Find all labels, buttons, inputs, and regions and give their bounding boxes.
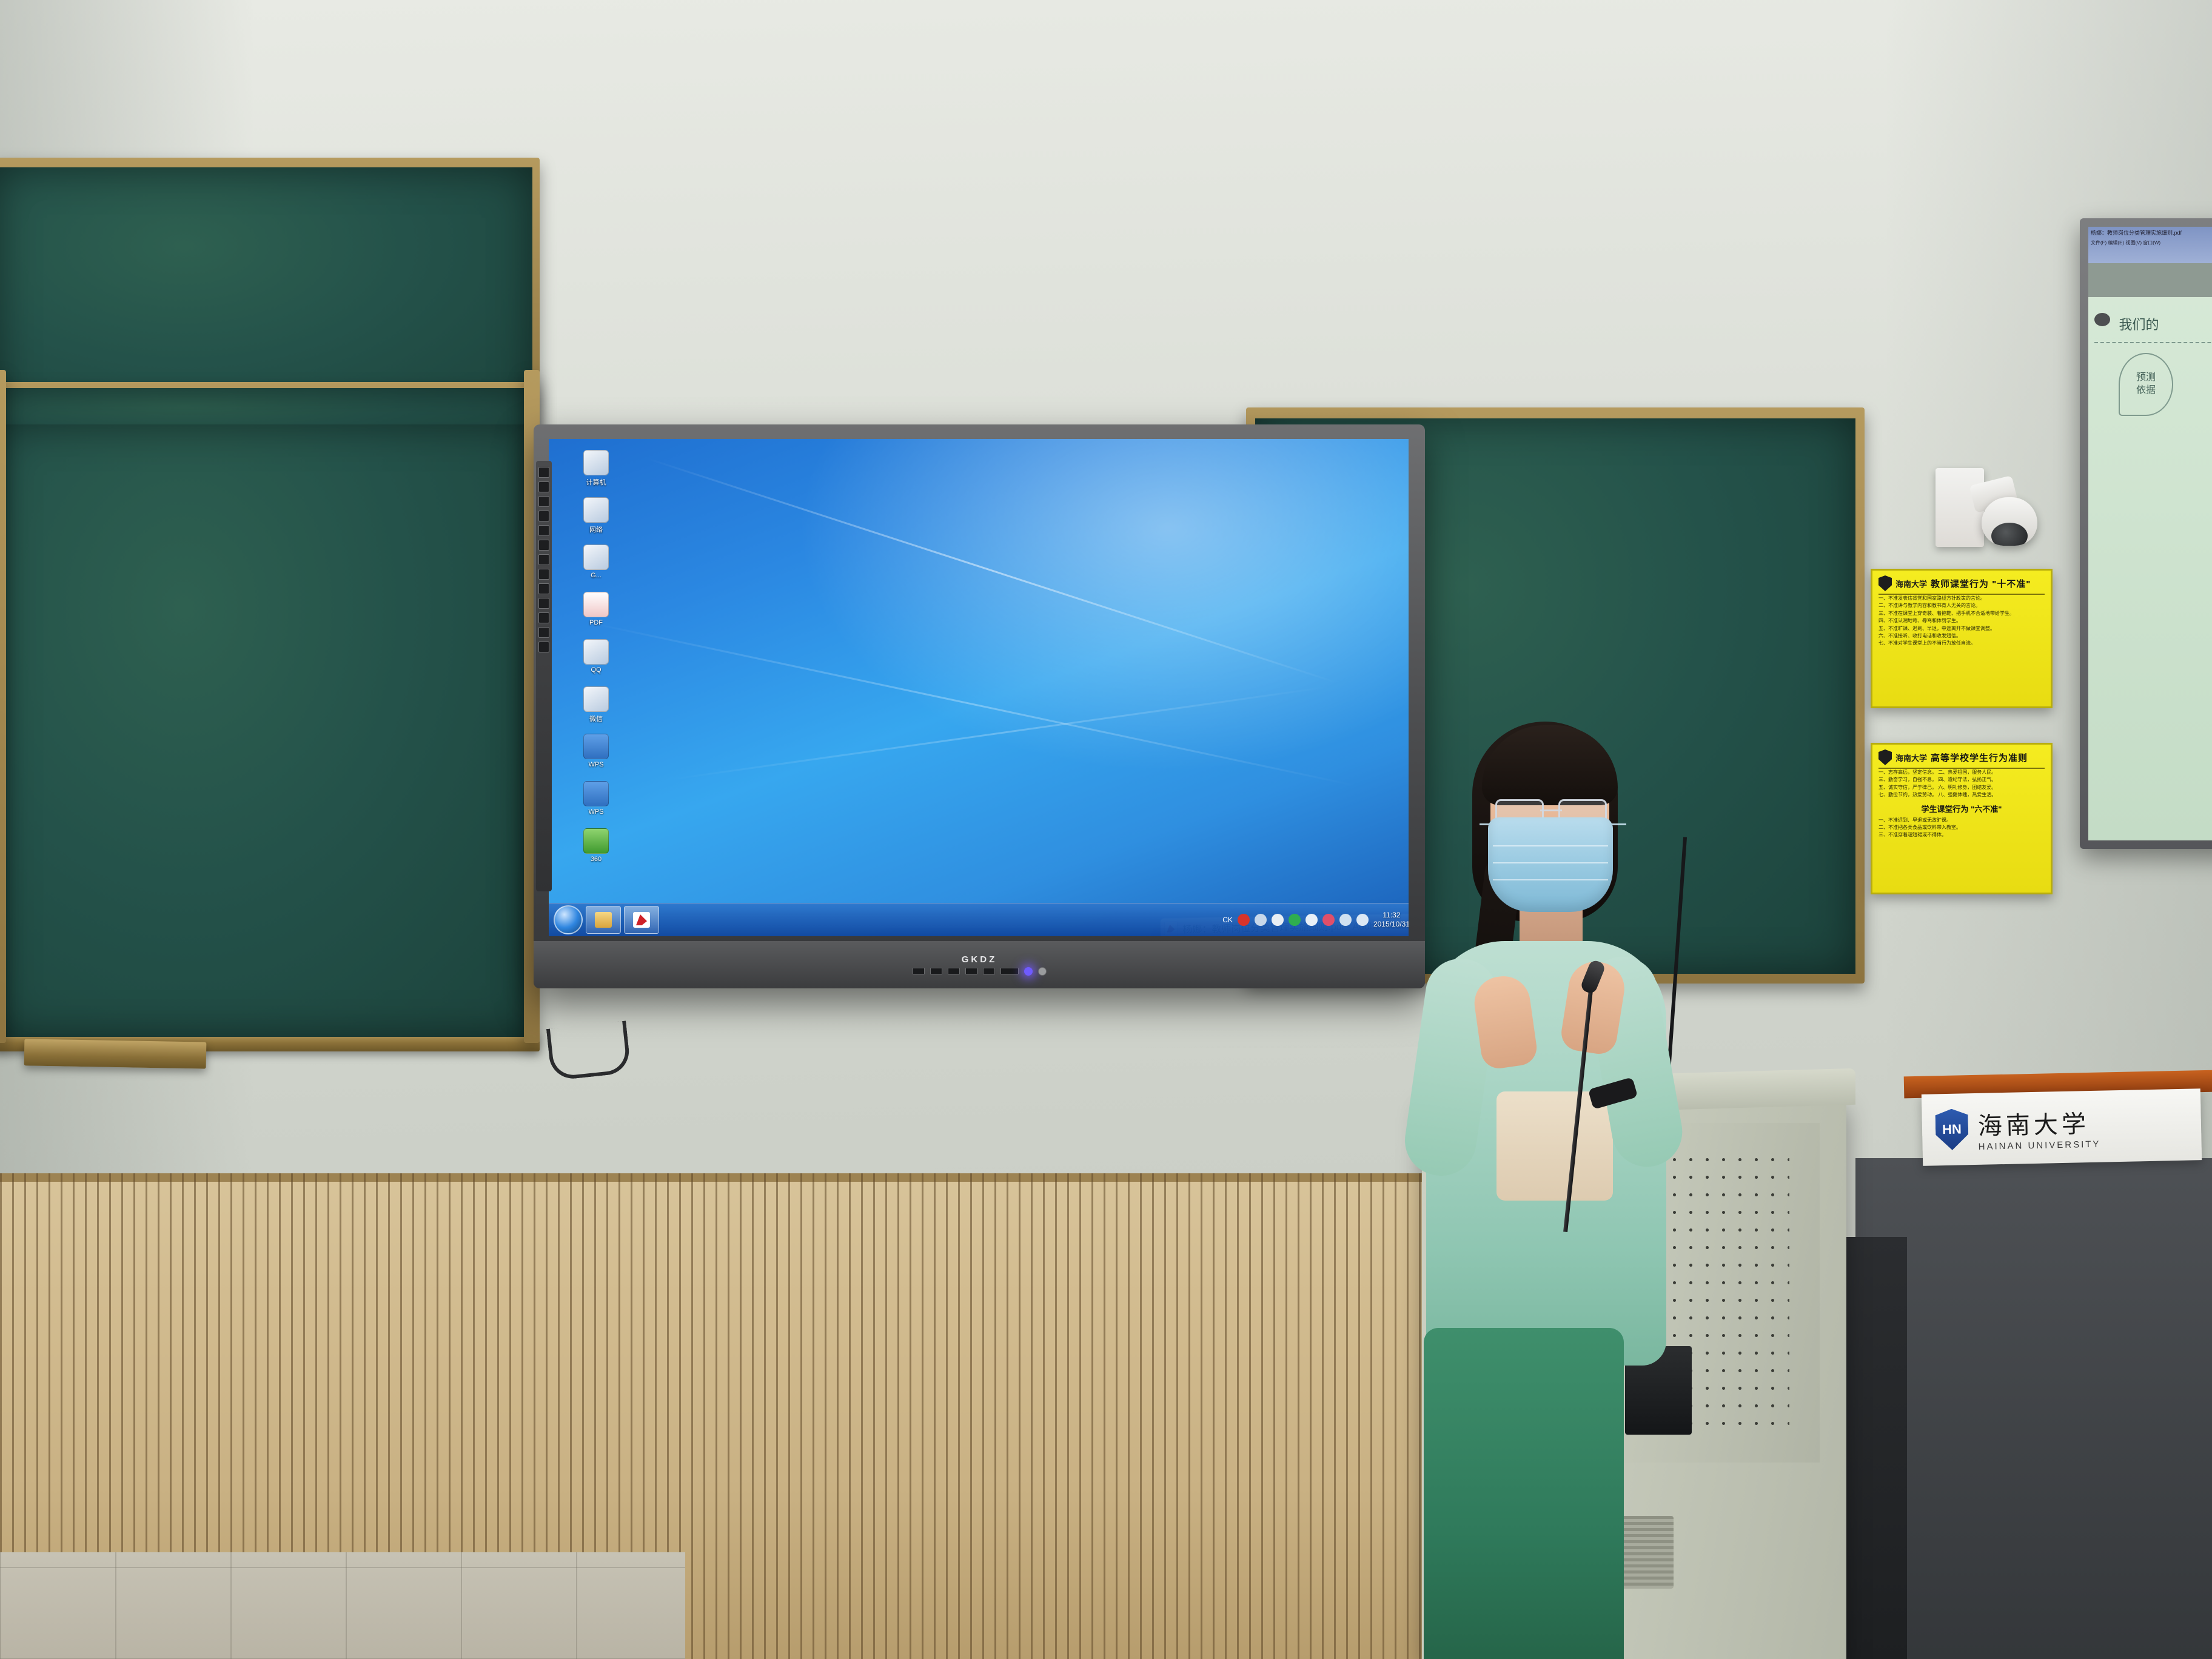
network-port-icon[interactable] — [1000, 968, 1019, 974]
side-button-pen-icon[interactable] — [538, 511, 549, 521]
desktop-icon-label: G... — [580, 572, 612, 579]
podium-shield-icon: HN — [1935, 1108, 1968, 1150]
desktop-icon-label: PDF — [580, 619, 612, 626]
desktop-icon-glyph — [583, 497, 609, 523]
desktop-icon-glyph — [583, 828, 609, 854]
updates-icon[interactable] — [1255, 914, 1267, 926]
poster-line: 一、不准发表违背党和国家路线方针政策的言论。 — [1879, 595, 2045, 602]
poster-student-rules: 海南大学 高等学校学生行为准则 一、志存高远，坚定信念。 二、热爱祖国，服务人民… — [1871, 743, 2053, 894]
desktop-icon-1[interactable]: 网络 — [580, 497, 612, 534]
poster-sub-line: 二、不准把各类食品或饮料带入教室。 — [1879, 824, 2045, 831]
poster-line: 四、不准认潮地苛、辱骂和体罚学生。 — [1879, 617, 2045, 625]
desktop-icon-label: 网络 — [580, 525, 612, 534]
desktop-icon-glyph — [583, 545, 609, 570]
desktop-icon-glyph — [583, 686, 609, 712]
floor-tiles — [0, 1552, 685, 1659]
taskbar-adobe-reader[interactable] — [624, 906, 659, 934]
poster-line: 三、不准在课堂上穿奇装、着拖鞋、把手机不合适地带给学生。 — [1879, 610, 2045, 617]
poster-line: 七、不准对学生课堂上的不当行为放任自流。 — [1879, 640, 2045, 647]
desktop-icon-glyph — [583, 639, 609, 665]
side-button-select-icon[interactable] — [538, 540, 549, 551]
poster-subtitle: 学生课堂行为 "六不准" — [1879, 803, 2045, 814]
poster-university: 海南大学 — [1895, 578, 1927, 589]
tray-label: CK — [1222, 916, 1233, 924]
side-button-volume-up-icon[interactable] — [538, 627, 549, 638]
desktop-icon-3[interactable]: PDF — [580, 592, 612, 626]
poster-line: 五、不准旷课、迟到、早退，中途离开不做课堂调整。 — [1879, 625, 2045, 632]
security-icon[interactable] — [1322, 914, 1335, 926]
display-chin: GKDZ — [534, 941, 1425, 988]
desktop-icon-label: QQ — [580, 666, 612, 674]
audio-port-icon[interactable] — [983, 968, 995, 974]
poster-university: 海南大学 — [1895, 752, 1927, 763]
display-side-buttons[interactable] — [536, 461, 552, 891]
desktop-icon-7[interactable]: WPS — [580, 781, 612, 816]
side-monitor-menu: 文件(F) 编辑(E) 视图(V) 窗口(W) — [2088, 238, 2212, 247]
clock-time: 11:32 — [1373, 911, 1409, 920]
side-monitor-slide: 我们的 预测 依据 — [2088, 297, 2212, 432]
poster-header: 海南大学 教师课堂行为 "十不准" — [1879, 575, 2045, 595]
chalkboard-left-main — [0, 424, 532, 1037]
desktop-icon-8[interactable]: 360 — [580, 828, 612, 863]
presenter — [1407, 716, 1674, 1659]
side-button-page-icon[interactable] — [538, 612, 549, 623]
floor — [0, 1552, 685, 1659]
side-button-shape-icon[interactable] — [538, 554, 549, 565]
classroom-scene: 计算机 网络 G... PDF QQ 微信 WPS WPS — [0, 0, 2212, 1659]
side-monitor-bullet-icon — [2094, 313, 2110, 326]
desktop-icon-label: 计算机 — [580, 477, 612, 487]
podium-right-body — [1855, 1158, 2212, 1659]
face-mask-icon — [1488, 817, 1613, 912]
desktop-icon-label: 微信 — [580, 714, 612, 723]
poster-line: 七、勤俭节约，热爱劳动。 八、强健体魄，热爱生活。 — [1879, 791, 2045, 799]
desktop-icon-4[interactable]: QQ — [580, 639, 612, 674]
side-button-eraser-icon[interactable] — [538, 525, 549, 536]
mask-pleat-3 — [1493, 879, 1608, 880]
smart-display-screen[interactable]: 计算机 网络 G... PDF QQ 微信 WPS WPS — [549, 439, 1409, 936]
network-icon[interactable] — [1339, 914, 1352, 926]
acrobat-icon — [633, 912, 650, 928]
poster-line: 一、志存高远，坚定信念。 二、热爱祖国，服务人民。 — [1879, 769, 2045, 776]
system-tray[interactable]: CK 11:32 2015/10/31 — [1222, 911, 1409, 929]
poster-title: 教师课堂行为 "十不准" — [1931, 577, 2031, 590]
side-monitor-oval-line1: 预测 — [2136, 372, 2156, 384]
desktop-icon-0[interactable]: 计算机 — [580, 450, 612, 487]
desktop-icon-label: WPS — [580, 761, 612, 768]
volume-icon[interactable] — [1305, 914, 1318, 926]
side-monitor-screen[interactable]: 杨娜：教师岗位分类管理实施细则.pdf 文件(F) 编辑(E) 视图(V) 窗口… — [2088, 227, 2212, 840]
desktop-icon-glyph — [583, 734, 609, 759]
poster-sub-line: 一、不准迟到、早退或无故旷课。 — [1879, 817, 2045, 824]
usb-port-2-icon[interactable] — [930, 968, 942, 974]
presenter-skirt — [1424, 1328, 1624, 1659]
mask-pleat-1 — [1493, 845, 1608, 846]
windows-taskbar[interactable]: CK 11:32 2015/10/31 — [549, 903, 1409, 936]
side-button-undo-icon[interactable] — [538, 569, 549, 580]
side-monitor-titlebar: 杨娜：教师岗位分类管理实施细则.pdf 文件(F) 编辑(E) 视图(V) 窗口… — [2088, 227, 2212, 263]
podium-plate-en: HAINAN UNIVERSITY — [1978, 1139, 2100, 1151]
podium-lower-body — [1840, 1237, 1907, 1659]
podium-plate-text: 海南大学 HAINAN UNIVERSITY — [1977, 1104, 2100, 1151]
side-monitor-oval-line2: 依据 — [2136, 384, 2156, 397]
folder-icon — [595, 912, 612, 928]
poster-line: 三、勤奋学习，自强不息。 四、遵纪守法，弘扬正气。 — [1879, 776, 2045, 783]
side-monitor-heading: 我们的 — [2119, 314, 2159, 333]
ir-sensor-icon — [1038, 967, 1047, 976]
display-port-row[interactable] — [913, 967, 1047, 976]
display-brand-label: GKDZ — [962, 954, 997, 965]
poster-shield-icon — [1879, 575, 1892, 591]
desktop-icon-6[interactable]: WPS — [580, 734, 612, 768]
desktop-icon-2[interactable]: G... — [580, 545, 612, 579]
poster-title: 高等学校学生行为准则 — [1931, 751, 2028, 764]
mask-pleat-2 — [1493, 862, 1608, 863]
side-button-power-icon[interactable] — [538, 467, 549, 478]
poster-line: 二、不准讲与教学内容和教书育人无关的言论。 — [1879, 602, 2045, 609]
eject-icon[interactable] — [1356, 914, 1369, 926]
power-led-indicator — [1024, 967, 1033, 976]
hdmi-port-icon[interactable] — [948, 968, 960, 974]
side-monitor-oval: 预测 依据 — [2119, 353, 2173, 416]
side-monitor-toolbar — [2088, 263, 2212, 297]
desktop-icon-5[interactable]: 微信 — [580, 686, 612, 723]
dome-security-camera-icon — [1982, 497, 2037, 546]
start-orb-icon[interactable] — [554, 905, 583, 934]
desktop-icon-glyph — [583, 781, 609, 806]
side-button-save-icon[interactable] — [538, 598, 549, 609]
taskbar-file-explorer[interactable] — [586, 906, 621, 934]
desktop-icon-label: 360 — [580, 856, 612, 863]
side-button-source-icon[interactable] — [538, 496, 549, 507]
podium-nameplate: HN 海南大学 HAINAN UNIVERSITY — [1922, 1088, 2202, 1166]
podium-plate-cn: 海南大学 — [1977, 1104, 2100, 1141]
poster-header: 海南大学 高等学校学生行为准则 — [1879, 749, 2045, 769]
sogou-icon[interactable] — [1238, 914, 1250, 926]
chalk-tray-left — [24, 1039, 207, 1068]
side-button-volume-down-icon[interactable] — [538, 642, 549, 652]
poster-shield-icon — [1879, 749, 1892, 765]
chalkboard-edge-left — [0, 370, 6, 1043]
side-button-menu-icon[interactable] — [538, 481, 549, 492]
taskbar-clock[interactable]: 11:32 2015/10/31 — [1373, 911, 1409, 929]
poster-line: 六、不准接听、收打电话和收发短信。 — [1879, 632, 2045, 640]
windows-wallpaper — [549, 439, 1409, 936]
shield-icon[interactable] — [1289, 914, 1301, 926]
poster-line: 五、诚实守信，严于律己。 六、明礼修身，团结友爱。 — [1879, 784, 2045, 791]
vga-port-icon[interactable] — [965, 968, 977, 974]
usb-port-1-icon[interactable] — [913, 968, 925, 974]
camera-lens — [1991, 523, 2028, 546]
cloud-icon[interactable] — [1272, 914, 1284, 926]
desktop-icon-glyph — [583, 592, 609, 617]
microphone — [1589, 976, 1596, 1243]
side-button-redo-icon[interactable] — [538, 583, 549, 594]
side-monitor-divider — [2094, 342, 2212, 343]
desktop-icon-label: WPS — [580, 808, 612, 816]
desktop-icon-glyph — [583, 450, 609, 475]
clock-date: 2015/10/31 — [1373, 920, 1409, 929]
poster-sub-line: 三、不准穿着超短裙或不得体。 — [1879, 831, 2045, 839]
poster-teacher-rules: 海南大学 教师课堂行为 "十不准" 一、不准发表违背党和国家路线方针政策的言论。… — [1871, 569, 2053, 708]
side-monitor-title: 杨娜：教师岗位分类管理实施细则.pdf — [2088, 227, 2212, 238]
